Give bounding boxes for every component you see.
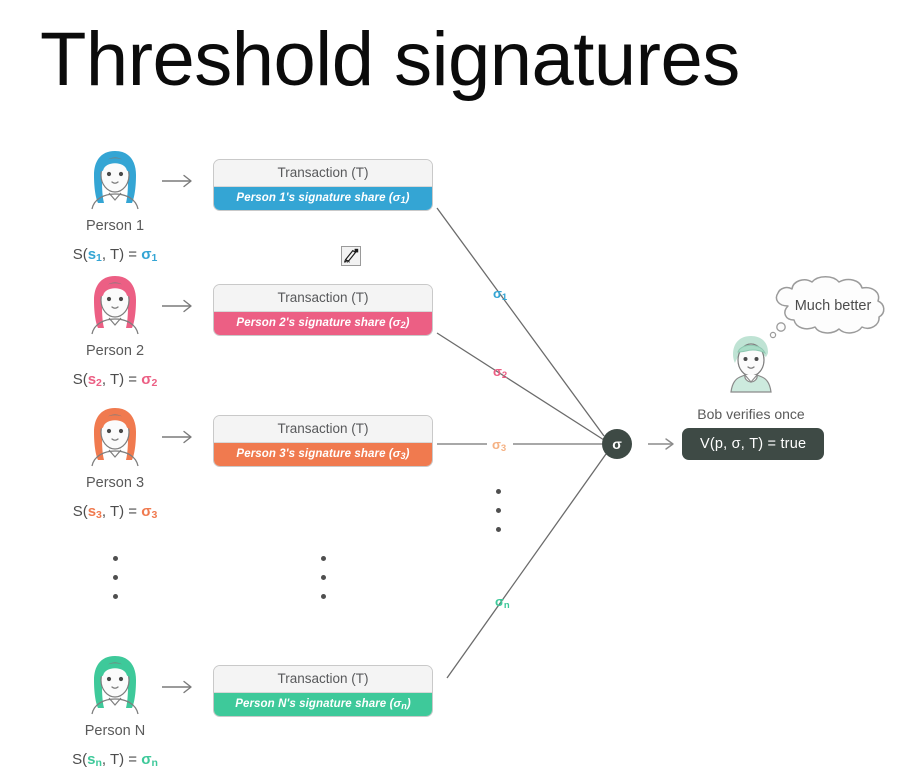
ellipsis-persons bbox=[113, 556, 118, 599]
verification-result-box[interactable]: V(p, σ, T) = true bbox=[682, 428, 824, 460]
slide-canvas: Threshold signatures P bbox=[0, 0, 911, 780]
formula-sigma: σ3 bbox=[141, 503, 157, 520]
person-block-n: Person N S(sn, T) = σn bbox=[50, 650, 180, 769]
ellipsis-cards bbox=[321, 556, 326, 599]
wire-sigma-label-2: σ2 bbox=[493, 364, 507, 381]
person-label: Person 1 bbox=[50, 218, 180, 234]
page-title: Threshold signatures bbox=[40, 18, 880, 102]
person-formula: S(s1, T) = σ1 bbox=[50, 246, 180, 264]
transaction-card-3[interactable]: Transaction (T) Person 3's signature sha… bbox=[213, 415, 433, 467]
svg-text:en: en bbox=[344, 259, 350, 265]
person-label: Person 3 bbox=[50, 475, 180, 491]
wire-sigma-label-1: σ1 bbox=[493, 286, 507, 303]
transaction-card-header: Transaction (T) bbox=[214, 416, 432, 443]
avatar-person-n bbox=[78, 650, 152, 716]
flow-arrow-n bbox=[160, 678, 196, 696]
ime-pen-icon[interactable]: en bbox=[341, 246, 361, 266]
person-block-3: Person 3 S(s3, T) = σ3 bbox=[50, 402, 180, 521]
signature-share-band: Person 3's signature share (σ3) bbox=[214, 443, 432, 466]
transaction-card-n[interactable]: Transaction (T) Person N's signature sha… bbox=[213, 665, 433, 717]
verification-expression: V(p, σ, T) = true bbox=[700, 436, 806, 452]
person-formula: S(s3, T) = σ3 bbox=[50, 503, 180, 521]
flow-arrow-1 bbox=[160, 172, 196, 190]
wire-personN bbox=[447, 454, 606, 678]
transaction-card-2[interactable]: Transaction (T) Person 2's signature sha… bbox=[213, 284, 433, 336]
person-block-1: Person 1 S(s1, T) = σ1 bbox=[50, 145, 180, 264]
transaction-card-header: Transaction (T) bbox=[214, 666, 432, 693]
bob-label: Bob verifies once bbox=[681, 406, 821, 422]
signature-share-band: Person N's signature share (σn) bbox=[214, 693, 432, 716]
formula-middle: , T) = bbox=[102, 371, 141, 388]
wire-person1 bbox=[437, 208, 604, 436]
arrow-node-to-verify-head bbox=[666, 439, 673, 449]
signature-share-band: Person 1's signature share (σ1) bbox=[214, 187, 432, 210]
formula-sigma: σ1 bbox=[141, 246, 157, 263]
thought-text: Much better bbox=[760, 278, 906, 334]
formula-prefix: S( bbox=[73, 246, 88, 263]
person-block-2: Person 2 S(s2, T) = σ2 bbox=[50, 270, 180, 389]
wire-person2 bbox=[437, 333, 604, 440]
formula-sigma: σ2 bbox=[141, 371, 157, 388]
person-label: Person N bbox=[50, 723, 180, 739]
avatar-person-3 bbox=[78, 402, 152, 468]
avatar-person-2 bbox=[78, 270, 152, 336]
person-formula: S(s2, T) = σ2 bbox=[50, 371, 180, 389]
sigma-node-symbol: σ bbox=[612, 437, 622, 451]
aggregated-signature-node[interactable]: σ bbox=[602, 429, 632, 459]
flow-arrow-2 bbox=[160, 297, 196, 315]
formula-secret: s3 bbox=[88, 503, 102, 520]
formula-middle: , T) = bbox=[102, 246, 141, 263]
wire-sigma-label-n: σn bbox=[495, 594, 510, 611]
formula-secret: s2 bbox=[88, 371, 102, 388]
thought-bubble: Much better bbox=[760, 274, 906, 344]
person-label: Person 2 bbox=[50, 343, 180, 359]
ellipsis-wires bbox=[496, 489, 501, 532]
bottom-caption-strip bbox=[0, 766, 911, 780]
formula-secret: s1 bbox=[88, 246, 102, 263]
avatar-person-1 bbox=[78, 145, 152, 211]
signature-share-band: Person 2's signature share (σ2) bbox=[214, 312, 432, 335]
transaction-card-header: Transaction (T) bbox=[214, 285, 432, 312]
formula-middle: , T) = bbox=[102, 503, 141, 520]
transaction-card-header: Transaction (T) bbox=[214, 160, 432, 187]
wire-sigma-label-3: σ3 bbox=[492, 437, 506, 454]
flow-arrow-3 bbox=[160, 428, 196, 446]
formula-prefix: S( bbox=[73, 371, 88, 388]
formula-prefix: S( bbox=[73, 503, 88, 520]
transaction-card-1[interactable]: Transaction (T) Person 1's signature sha… bbox=[213, 159, 433, 211]
